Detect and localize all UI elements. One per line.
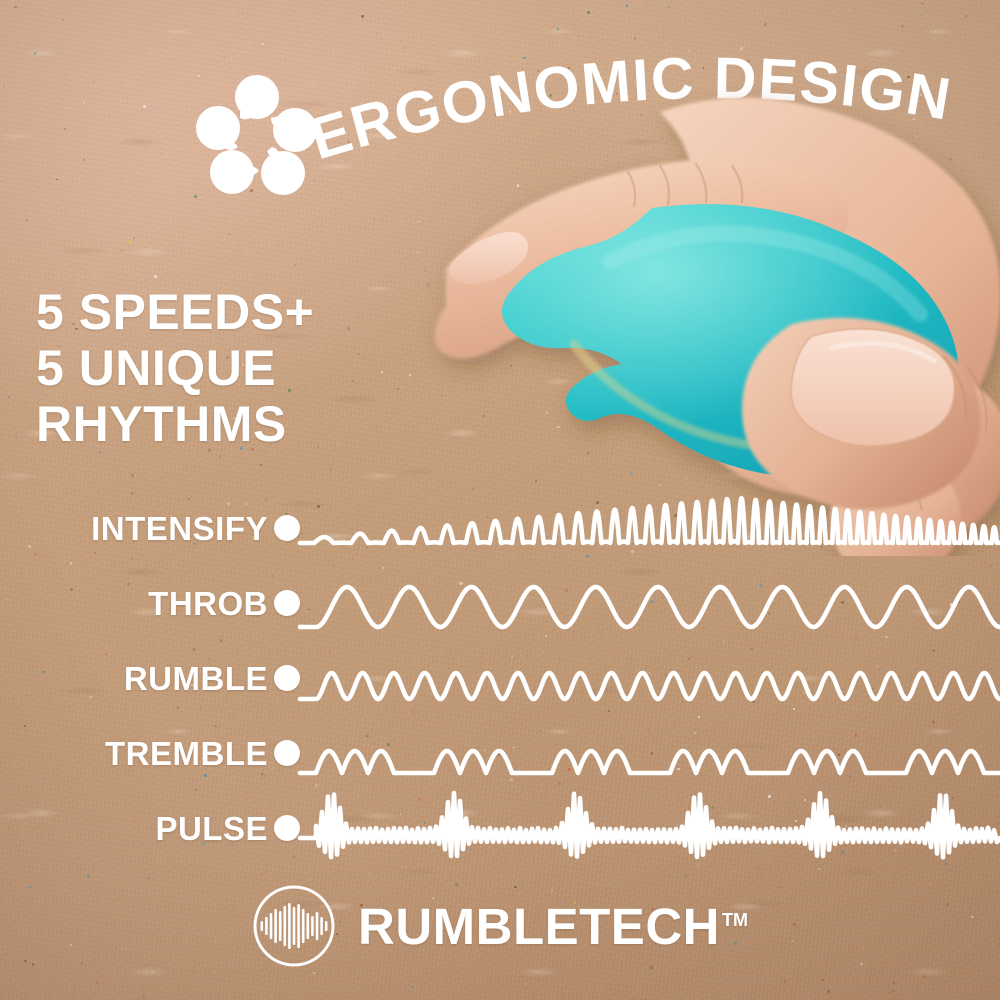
sound-wave-circle-icon bbox=[252, 884, 336, 968]
rhythm-dot-rumble bbox=[274, 665, 300, 691]
waveform-intensify bbox=[300, 492, 1000, 567]
rhythm-dot-throb bbox=[274, 590, 300, 616]
brand-name-text: RUMBLETECH bbox=[358, 898, 720, 955]
rhythm-dot-pulse bbox=[274, 815, 300, 841]
rhythm-label-pulse: PULSE bbox=[0, 810, 268, 848]
product-feature-panel: ERGONOMIC DESIGN bbox=[0, 0, 1000, 1000]
rhythm-label-tremble: TREMBLE bbox=[0, 735, 268, 773]
trademark-symbol: TM bbox=[722, 910, 748, 930]
waveform-tremble bbox=[300, 717, 1000, 792]
rhythm-label-rumble: RUMBLE bbox=[0, 660, 268, 698]
waveform-rumble bbox=[300, 642, 1000, 717]
speeds-line-1: 5 SPEEDS+ bbox=[36, 287, 314, 337]
rhythm-row-tremble: TREMBLE bbox=[0, 717, 1000, 792]
rhythm-row-pulse: PULSE bbox=[0, 792, 1000, 867]
rhythm-label-throb: THROB bbox=[0, 585, 268, 623]
rhythm-label-intensify: INTENSIFY bbox=[0, 510, 268, 548]
brand-lockup: RUMBLETECHTM bbox=[0, 884, 1000, 968]
waveform-pulse bbox=[300, 786, 1000, 872]
speeds-line-3: RHYTHMS bbox=[36, 399, 314, 449]
pentagon-dots-logo-icon bbox=[196, 72, 320, 196]
speeds-headline-block: 5 SPEEDS+ 5 UNIQUE RHYTHMS bbox=[36, 287, 314, 455]
rhythm-dot-tremble bbox=[274, 740, 300, 766]
rhythm-row-throb: THROB bbox=[0, 567, 1000, 642]
speeds-line-2: 5 UNIQUE bbox=[36, 343, 314, 393]
product-photo-hand-holding-massager bbox=[360, 86, 1000, 556]
rhythm-list: INTENSIFY THROB RUMBLE TREMBLE bbox=[0, 492, 1000, 867]
rhythm-dot-intensify bbox=[274, 515, 300, 541]
waveform-throb bbox=[300, 567, 1000, 642]
rhythm-row-rumble: RUMBLE bbox=[0, 642, 1000, 717]
rhythm-row-intensify: INTENSIFY bbox=[0, 492, 1000, 567]
brand-name: RUMBLETECHTM bbox=[358, 897, 748, 956]
